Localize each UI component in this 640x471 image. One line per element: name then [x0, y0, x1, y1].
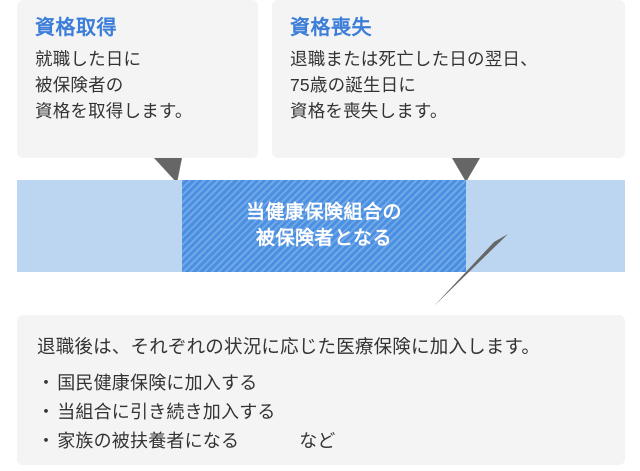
- list-item: ・国民健康保険に加入する: [37, 369, 605, 398]
- card-lose-body: 退職または死亡した日の翌日、 75歳の誕生日に 資格を喪失します。: [290, 46, 607, 124]
- list-item: ・家族の被扶養者になるなど: [37, 427, 605, 456]
- insurance-eligibility-diagram: 資格取得 就職した日に 被保険者の 資格を取得します。 資格喪失 退職または死亡…: [0, 0, 640, 471]
- striped-box-label: 当健康保険組合の 被保険者となる: [246, 200, 402, 252]
- retire-suffix-label: など: [299, 427, 335, 456]
- bullet-marker-icon: ・: [37, 373, 55, 393]
- retire-options-list: ・国民健康保険に加入する ・当組合に引き続き加入する ・家族の被扶養者になるなど: [37, 369, 605, 456]
- retire-lead-text: 退職後は、それぞれの状況に応じた医療保険に加入します。: [37, 333, 605, 361]
- card-after-retirement: 退職後は、それぞれの状況に応じた医療保険に加入します。 ・国民健康保険に加入する…: [17, 315, 625, 465]
- retire-option-label: 当組合に引き続き加入する: [57, 402, 275, 422]
- card-acquire-title: 資格取得: [35, 14, 240, 42]
- card-lose-title: 資格喪失: [290, 14, 607, 42]
- card-qualification-lose: 資格喪失 退職または死亡した日の翌日、 75歳の誕生日に 資格を喪失します。: [272, 0, 625, 158]
- bullet-marker-icon: ・: [37, 402, 55, 422]
- retire-option-label: 国民健康保険に加入する: [57, 373, 257, 393]
- striped-box-insured-member: 当健康保険組合の 被保険者となる: [182, 180, 466, 272]
- retire-option-label: 家族の被扶養者になる: [57, 431, 239, 451]
- card-acquire-body: 就職した日に 被保険者の 資格を取得します。: [35, 46, 240, 124]
- bullet-marker-icon: ・: [37, 431, 55, 451]
- list-item: ・当組合に引き続き加入する: [37, 398, 605, 427]
- card-qualification-acquire: 資格取得 就職した日に 被保険者の 資格を取得します。: [17, 0, 258, 158]
- arrow-down-slanted-left-icon: [432, 232, 512, 310]
